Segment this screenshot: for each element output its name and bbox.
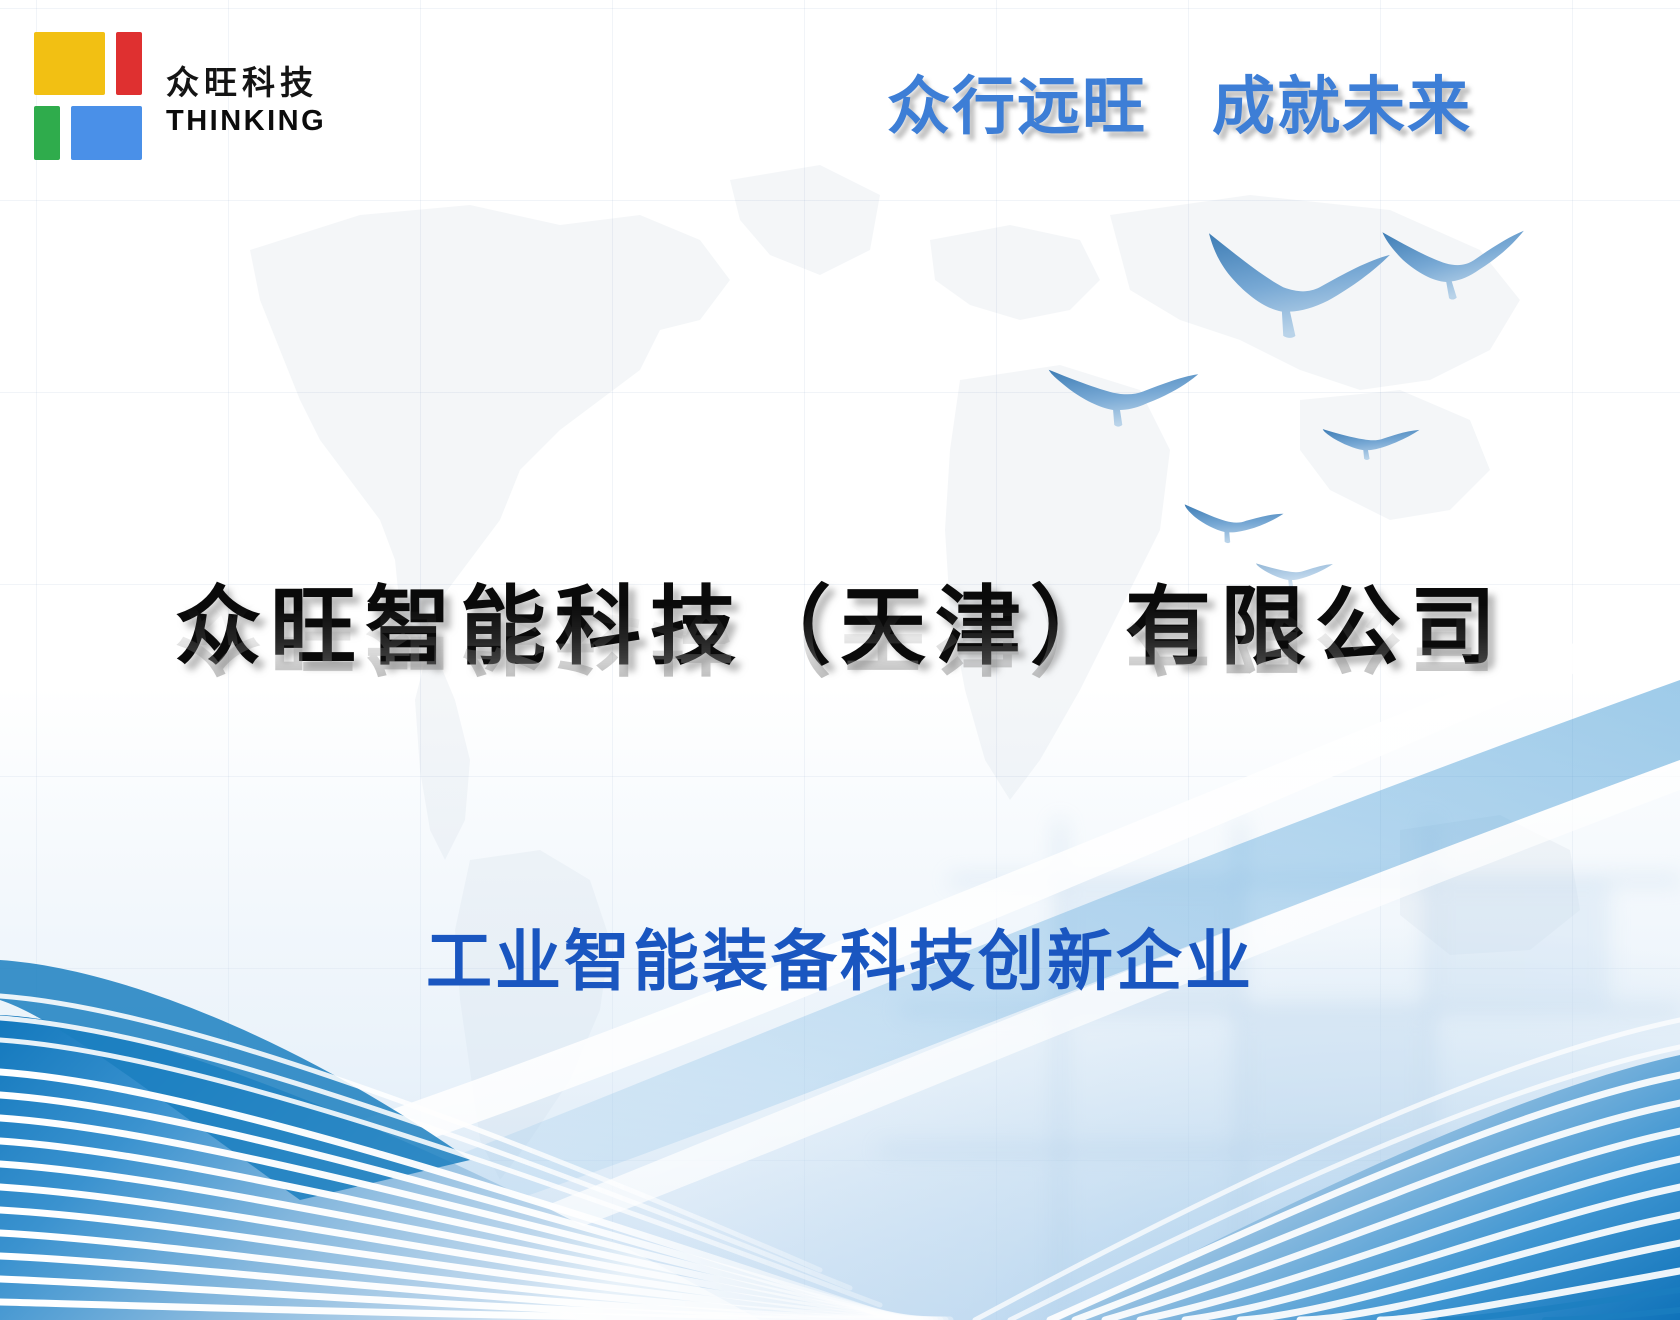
presentation-slide: 众旺科技 THINKING 众行远旺 成就未来 众旺智能科技（天津）有限公司 众… (0, 0, 1680, 1320)
company-title-block: 众旺智能科技（天津）有限公司 众旺智能科技（天津）有限公司 (0, 578, 1680, 780)
page-subtitle: 工业智能装备科技创新企业 (0, 908, 1680, 1004)
logo-chinese-name: 众旺科技 (166, 66, 326, 99)
slide-header: 众旺科技 THINKING 众行远旺 成就未来 (0, 0, 1680, 185)
logo-english-name: THINKING (166, 107, 326, 136)
page-title-reflection: 众旺智能科技（天津）有限公司 (0, 582, 1680, 681)
logo-yellow-block (34, 32, 105, 95)
logo-green-block (34, 106, 60, 160)
logo-blue-block (71, 106, 142, 160)
logo-red-block (116, 32, 142, 95)
logo-wordmark: 众旺科技 THINKING (166, 56, 326, 136)
zhongwang-technology-logo[interactable]: 众旺科技 THINKING (34, 32, 326, 160)
logo-mark-blocks (34, 32, 142, 160)
company-tagline: 众行远旺 成就未来 (887, 56, 1472, 147)
